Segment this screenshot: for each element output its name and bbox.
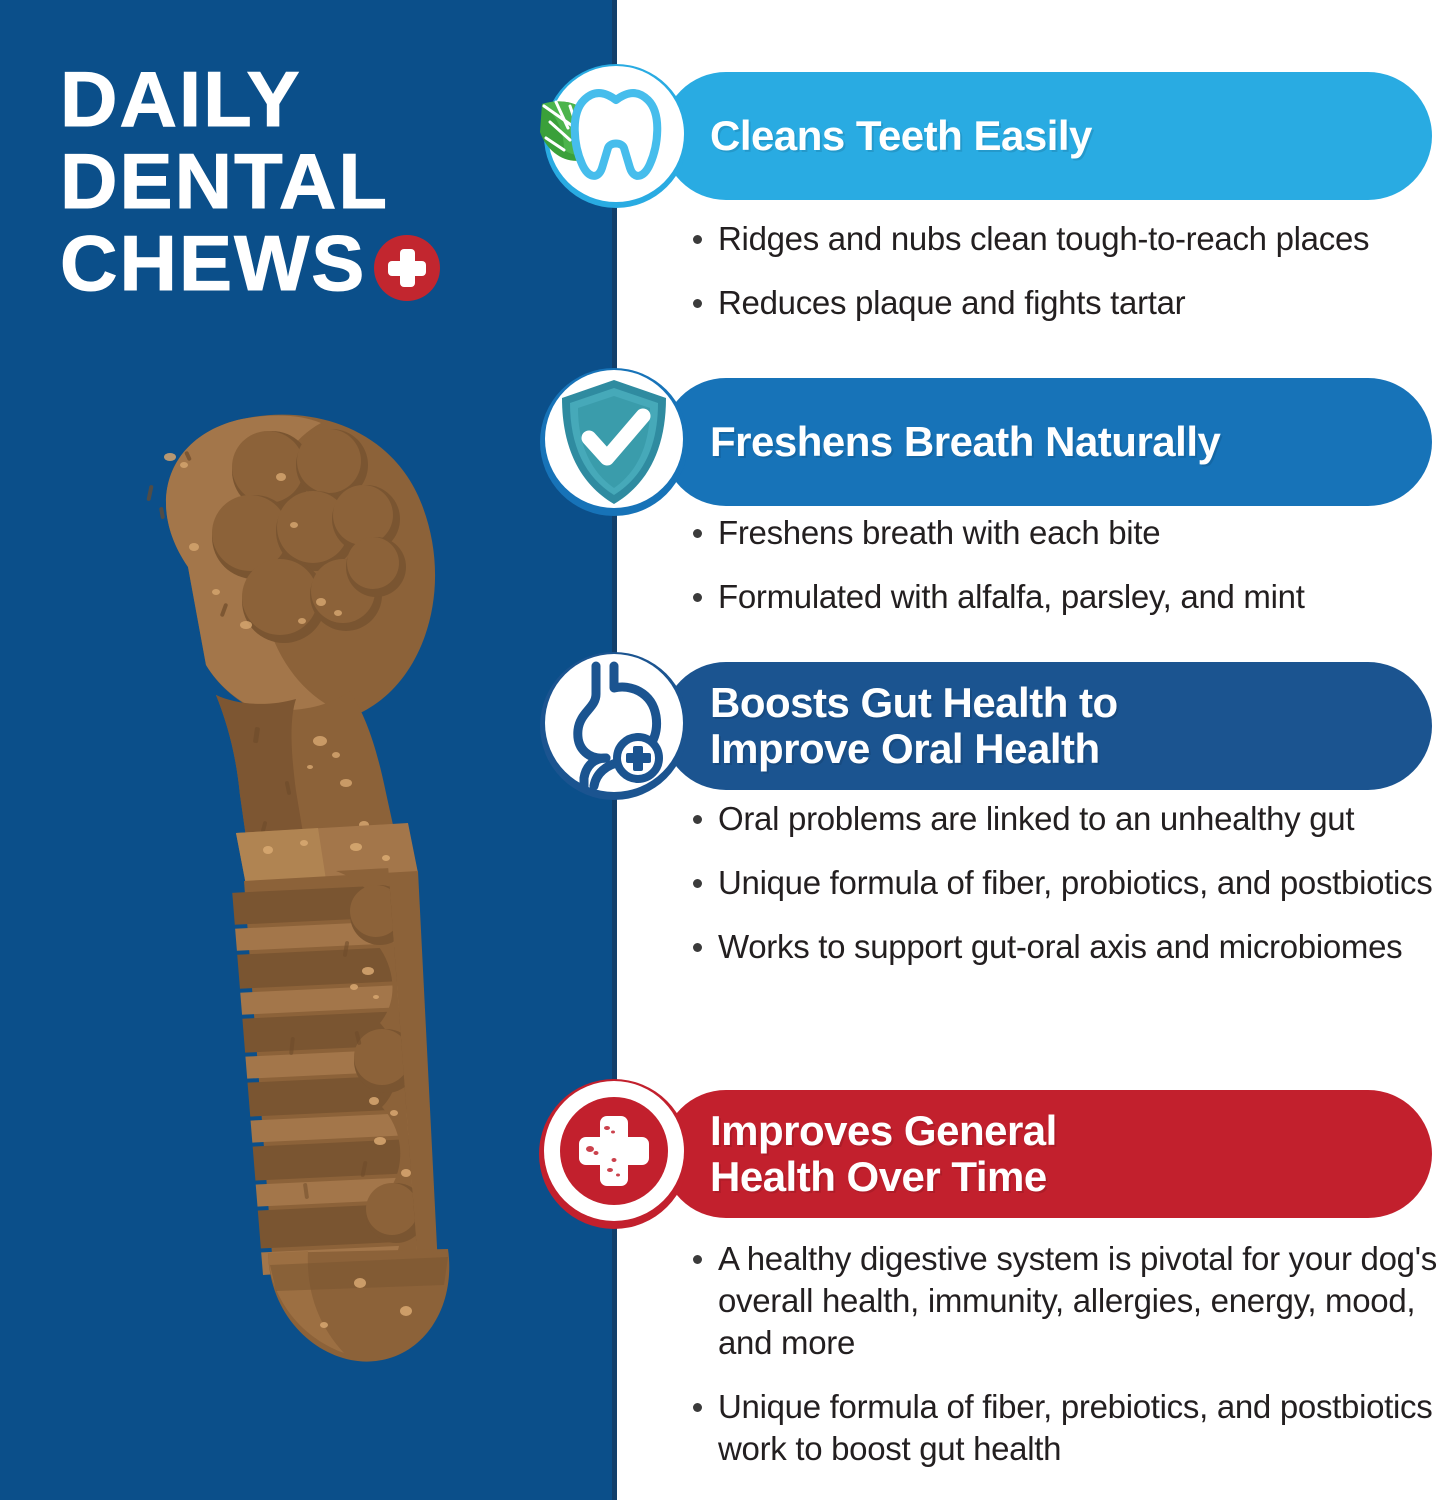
bullet-item: A healthy digestive system is pivotal fo… — [690, 1238, 1444, 1364]
title-line-3: CHEWS — [60, 222, 366, 304]
title-line-3-row: CHEWS — [60, 222, 580, 304]
stomach-plus-icon — [534, 646, 694, 806]
feature-heading: Improves General Health Over Time — [710, 1108, 1057, 1200]
feature-banner-gut-health[interactable]: Boosts Gut Health to Improve Oral Health — [662, 662, 1432, 790]
chew-base — [268, 1249, 449, 1362]
bullet-item: Unique formula of fiber, probiotics, and… — [690, 862, 1444, 904]
shield-checkmark-icon — [534, 362, 694, 522]
feature-bullets: Freshens breath with each bite Formulate… — [690, 512, 1444, 640]
chew-ridged-body — [228, 865, 462, 1283]
medical-plus-icon — [374, 235, 440, 301]
bullet-item: Formulated with alfalfa, parsley, and mi… — [690, 576, 1444, 618]
title-line-1: DAILY — [60, 58, 590, 140]
feature-heading: Boosts Gut Health to Improve Oral Health — [710, 680, 1118, 772]
bullet-item: Freshens breath with each bite — [690, 512, 1444, 554]
infographic-page: DAILY DENTAL CHEWS — [0, 0, 1444, 1500]
chew-handle — [216, 691, 418, 885]
feature-heading-line-2: Health Over Time — [710, 1154, 1057, 1200]
feature-banner-general-health[interactable]: Improves General Health Over Time — [662, 1090, 1432, 1218]
feature-heading: Cleans Teeth Easily — [710, 113, 1092, 159]
feature-bullets: A healthy digestive system is pivotal fo… — [690, 1238, 1444, 1492]
bullet-item: Unique formula of fiber, prebiotics, and… — [690, 1386, 1444, 1470]
bullet-item: Ridges and nubs clean tough-to-reach pla… — [690, 218, 1444, 260]
bullet-item: Oral problems are linked to an unhealthy… — [690, 798, 1444, 840]
tooth-with-mint-leaf-icon — [534, 56, 694, 216]
medical-cross-circle-icon — [534, 1074, 694, 1234]
bullet-item: Reduces plaque and fights tartar — [690, 282, 1444, 324]
chew-head — [146, 415, 435, 724]
feature-heading-line-1: Boosts Gut Health to — [710, 680, 1118, 726]
feature-banner-cleans-teeth[interactable]: Cleans Teeth Easily — [662, 72, 1432, 200]
feature-bullets: Ridges and nubs clean tough-to-reach pla… — [690, 218, 1444, 346]
page-title: DAILY DENTAL CHEWS — [60, 58, 580, 304]
dog-dental-chew-illustration — [118, 395, 538, 1405]
feature-bullets: Oral problems are linked to an unhealthy… — [690, 798, 1444, 990]
feature-heading: Freshens Breath Naturally — [710, 419, 1220, 465]
bullet-item: Works to support gut-oral axis and micro… — [690, 926, 1444, 968]
feature-heading-line-1: Improves General — [710, 1108, 1057, 1154]
title-line-2: DENTAL — [60, 140, 590, 222]
feature-banner-freshens-breath[interactable]: Freshens Breath Naturally — [662, 378, 1432, 506]
feature-heading-line-2: Improve Oral Health — [710, 726, 1118, 772]
